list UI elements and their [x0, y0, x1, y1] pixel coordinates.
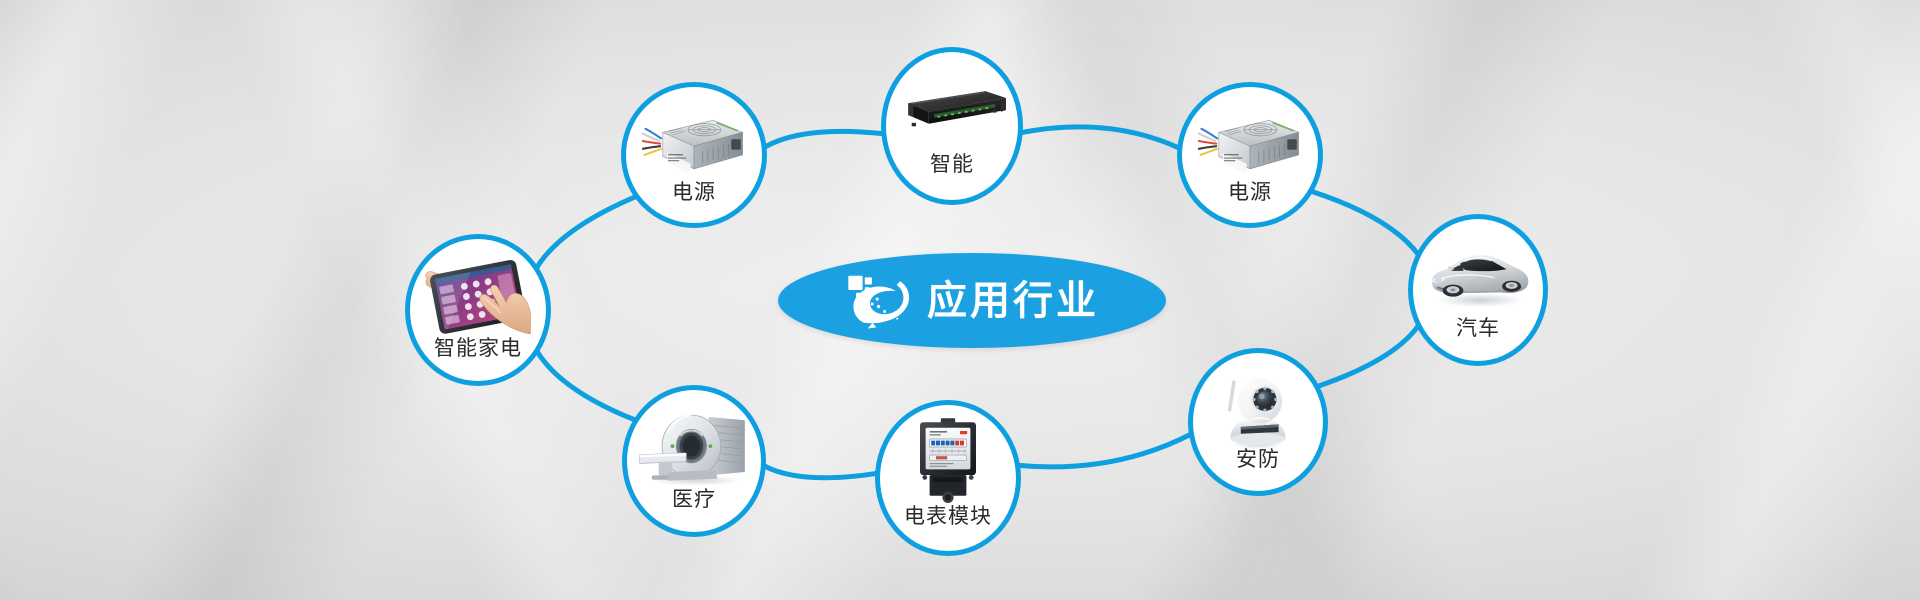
node-label-medical: 医疗	[672, 489, 716, 510]
sports-car-icon	[1422, 243, 1534, 309]
node-power-supply-right[interactable]: 电源	[1177, 82, 1323, 228]
node-label-smart: 智能	[930, 154, 974, 175]
connector-automotive-to-security	[1317, 326, 1418, 387]
mri-scanner-icon	[638, 408, 750, 486]
node-art-smart	[886, 66, 1018, 154]
connector-meter-module-to-medical	[764, 466, 877, 478]
node-meter-module[interactable]: 电表模块	[875, 400, 1021, 556]
node-smart[interactable]: 智能	[881, 47, 1023, 205]
tablet-hand-icon	[422, 253, 534, 339]
connector-power-supply-left-to-smart	[765, 131, 884, 147]
node-automotive[interactable]: 汽车	[1408, 214, 1548, 366]
electric-meter-icon	[912, 415, 984, 511]
connector-security-to-meter-module	[1018, 434, 1191, 467]
node-smart-home[interactable]: 智能家电	[405, 234, 551, 386]
node-art-medical	[627, 404, 761, 489]
node-medical[interactable]: 医疗	[622, 385, 766, 537]
node-art-power-supply-left	[626, 100, 762, 182]
connector-medical-to-smart-home	[537, 351, 636, 420]
node-label-power-supply-right: 电源	[1228, 182, 1272, 203]
node-art-automotive	[1413, 233, 1543, 318]
connector-smart-to-power-supply-right	[1021, 127, 1180, 148]
node-art-power-supply-right	[1182, 100, 1318, 182]
ip-camera-icon	[1215, 365, 1301, 451]
rack-server-icon	[896, 86, 1008, 134]
center-badge: 应用行业	[778, 253, 1166, 348]
node-art-security	[1193, 366, 1323, 449]
node-power-supply-left[interactable]: 电源	[621, 82, 767, 228]
node-label-smart-home: 智能家电	[434, 338, 522, 359]
node-label-automotive: 汽车	[1456, 318, 1500, 339]
node-art-meter-module	[880, 419, 1016, 506]
banner-canvas: 电源	[0, 0, 1920, 600]
node-label-power-supply-left: 电源	[672, 182, 716, 203]
orbit-swoosh-pixels-icon	[845, 270, 911, 332]
connector-smart-home-to-power-supply-left	[537, 196, 637, 268]
pc-power-supply-icon	[642, 106, 746, 176]
connector-power-supply-right-to-automotive	[1311, 191, 1418, 254]
pc-power-supply-icon	[1198, 106, 1302, 176]
node-art-smart-home	[410, 253, 546, 338]
node-security[interactable]: 安防	[1188, 348, 1328, 496]
center-badge-title: 应用行业	[927, 281, 1099, 321]
node-label-security: 安防	[1236, 449, 1280, 470]
